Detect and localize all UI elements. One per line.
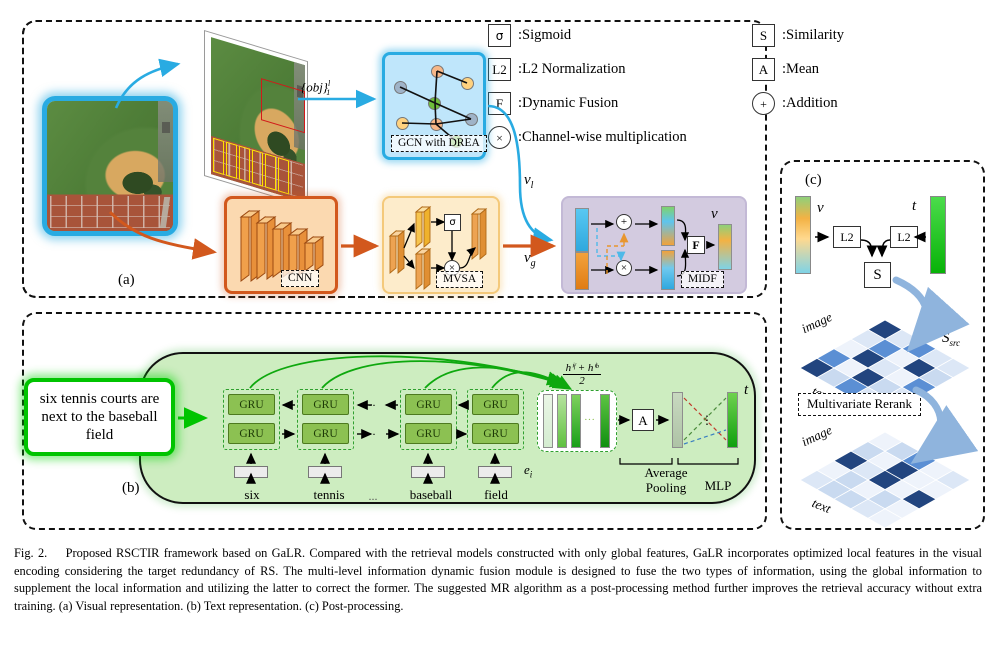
- s-mr-sub: mr: [950, 446, 960, 456]
- gcn-module: GCN with DREA: [382, 52, 486, 160]
- similarity-icon: S: [752, 24, 775, 47]
- embedding-label: ei: [524, 462, 532, 480]
- s-mr-label: Smr: [942, 438, 960, 456]
- v-global-label: vg: [524, 250, 536, 269]
- gru-backward: GRU: [405, 394, 452, 415]
- s-mr-symbol: S: [942, 438, 950, 454]
- fusion-icon: F: [488, 92, 511, 115]
- legend-item-similarity: S :Similarity: [752, 24, 844, 47]
- hidden-formula-denominator: 2: [563, 375, 602, 387]
- embedding-sub: i: [530, 470, 533, 480]
- caption-text: Proposed RSCTIR framework based on GaLR.…: [14, 546, 982, 613]
- legend-label-mean: :Mean: [782, 61, 819, 78]
- text-feature-bar: [727, 392, 738, 448]
- embedding-box: [308, 466, 342, 478]
- word-label-3: baseball: [396, 487, 466, 503]
- hidden-bar: [571, 394, 581, 448]
- mvsa-tag: MVSA: [436, 271, 483, 288]
- midf-tag: MIDF: [681, 271, 724, 288]
- hidden-formula-numerator: hⁱᶠ + hⁱᵇ: [563, 362, 602, 375]
- hidden-bar: [557, 394, 567, 448]
- gru-forward: GRU: [405, 423, 452, 444]
- object-detection-image: [186, 24, 314, 184]
- input-remote-sensing-image: [42, 96, 178, 236]
- gru-forward: GRU: [228, 423, 275, 444]
- gru-backward: GRU: [228, 394, 275, 415]
- legend-item-l2: L2 :L2 Normalization: [488, 58, 626, 81]
- sigma-icon: σ: [488, 24, 511, 47]
- word-label-4: field: [474, 487, 518, 503]
- l2-icon: L2: [488, 58, 511, 81]
- text-feature-bar-c: [930, 196, 946, 274]
- panel-c-t-label: t: [912, 198, 916, 215]
- gru-backward: GRU: [302, 394, 349, 415]
- legend-item-mean: A :Mean: [752, 58, 819, 81]
- v-local-symbol: v: [524, 172, 531, 188]
- s-src-sub: src: [950, 338, 961, 348]
- gru-backward: GRU: [472, 394, 519, 415]
- detection-box-yellow: [252, 149, 263, 186]
- s-src-symbol: S: [942, 330, 950, 346]
- legend-item-channelmul: × :Channel-wise multiplication: [488, 126, 687, 149]
- legend-label-similarity: :Similarity: [782, 27, 844, 44]
- sigmoid-box: σ: [444, 214, 461, 231]
- embedding-box: [234, 466, 268, 478]
- embedding-box: [478, 466, 512, 478]
- obj-label-sub: 1: [326, 88, 330, 97]
- word-label-ellipsis: ...: [358, 489, 388, 504]
- mean-icon: A: [752, 58, 775, 81]
- legend: σ :Sigmoid L2 :L2 Normalization F :Dynam…: [488, 18, 918, 146]
- legend-label-l2: :L2 Normalization: [518, 61, 626, 78]
- word-label-1: tennis: [302, 487, 356, 503]
- text-feature-label: t: [744, 382, 748, 399]
- detection-box-yellow: [239, 146, 250, 183]
- figure-root: (a) (b) (c) σ :Sigmoid L2 :L2 Normalizat…: [0, 0, 997, 649]
- legend-item-sigmoid: σ :Sigmoid: [488, 24, 571, 47]
- legend-item-addition: + :Addition: [752, 92, 838, 115]
- v-local-label: vl: [524, 172, 533, 191]
- hidden-bar: [600, 394, 610, 448]
- legend-label-addition: :Addition: [782, 95, 838, 112]
- panel-c-label: (c): [805, 172, 822, 189]
- midf-output-label: v: [711, 206, 718, 223]
- detection-box-yellow: [278, 157, 289, 194]
- hidden-bars-ellipsis: ···: [584, 414, 595, 426]
- obj-label-text: {obj}: [301, 79, 328, 94]
- legend-label-fusion: :Dynamic Fusion: [518, 95, 618, 112]
- obj-label-sup: l: [328, 79, 330, 88]
- v-global-sub: g: [531, 258, 536, 269]
- gru-forward: GRU: [302, 423, 349, 444]
- detection-box-yellow: [226, 142, 237, 179]
- panel-a-label: (a): [118, 272, 135, 289]
- cnn-tag: CNN: [281, 270, 319, 287]
- similarity-box: S: [864, 262, 891, 288]
- query-text-box: six tennis courts are next to the baseba…: [24, 378, 175, 456]
- mlp-label: MLP: [680, 478, 756, 494]
- multiply-icon: ×: [488, 126, 511, 149]
- midf-module: + × F v: [561, 196, 747, 294]
- word-label-0: six: [231, 487, 273, 503]
- hidden-bar: [543, 394, 553, 448]
- hidden-state-formula: hⁱᶠ + hⁱᵇ 2: [536, 362, 628, 387]
- legend-label-channelmul: :Channel-wise multiplication: [518, 129, 687, 146]
- detection-box-yellow: [265, 153, 276, 190]
- v-local-sub: l: [531, 180, 534, 191]
- figure-caption: Fig. 2. Proposed RSCTIR framework based …: [14, 545, 982, 615]
- s-src-label: Ssrc: [942, 330, 960, 348]
- gcn-tag: GCN with DREA: [391, 135, 487, 152]
- legend-item-fusion: F :Dynamic Fusion: [488, 92, 618, 115]
- legend-label-sigmoid: :Sigmoid: [518, 27, 571, 44]
- visual-feature-bar: [795, 196, 811, 274]
- multivariate-rerank-tag: Multivariate Rerank: [798, 393, 921, 416]
- l2-box-visual: L2: [833, 226, 861, 248]
- v-global-symbol: v: [524, 250, 531, 266]
- cnn-module: CNN: [224, 196, 338, 294]
- caption-label: Fig. 2.: [14, 546, 47, 560]
- l2-box-text: L2: [890, 226, 918, 248]
- panel-b-label: (b): [122, 480, 140, 497]
- embedding-box: [411, 466, 445, 478]
- detection-box-yellow: [213, 138, 224, 175]
- obj-arrow-label: {obj}l1: [301, 79, 330, 97]
- gru-forward: GRU: [472, 423, 519, 444]
- panel-c-v-label: v: [817, 200, 824, 217]
- mean-box: A: [632, 409, 654, 431]
- add-icon: +: [752, 92, 775, 115]
- mvsa-module: σ × MVSA: [382, 196, 500, 294]
- pooled-vector-bar: [672, 392, 683, 448]
